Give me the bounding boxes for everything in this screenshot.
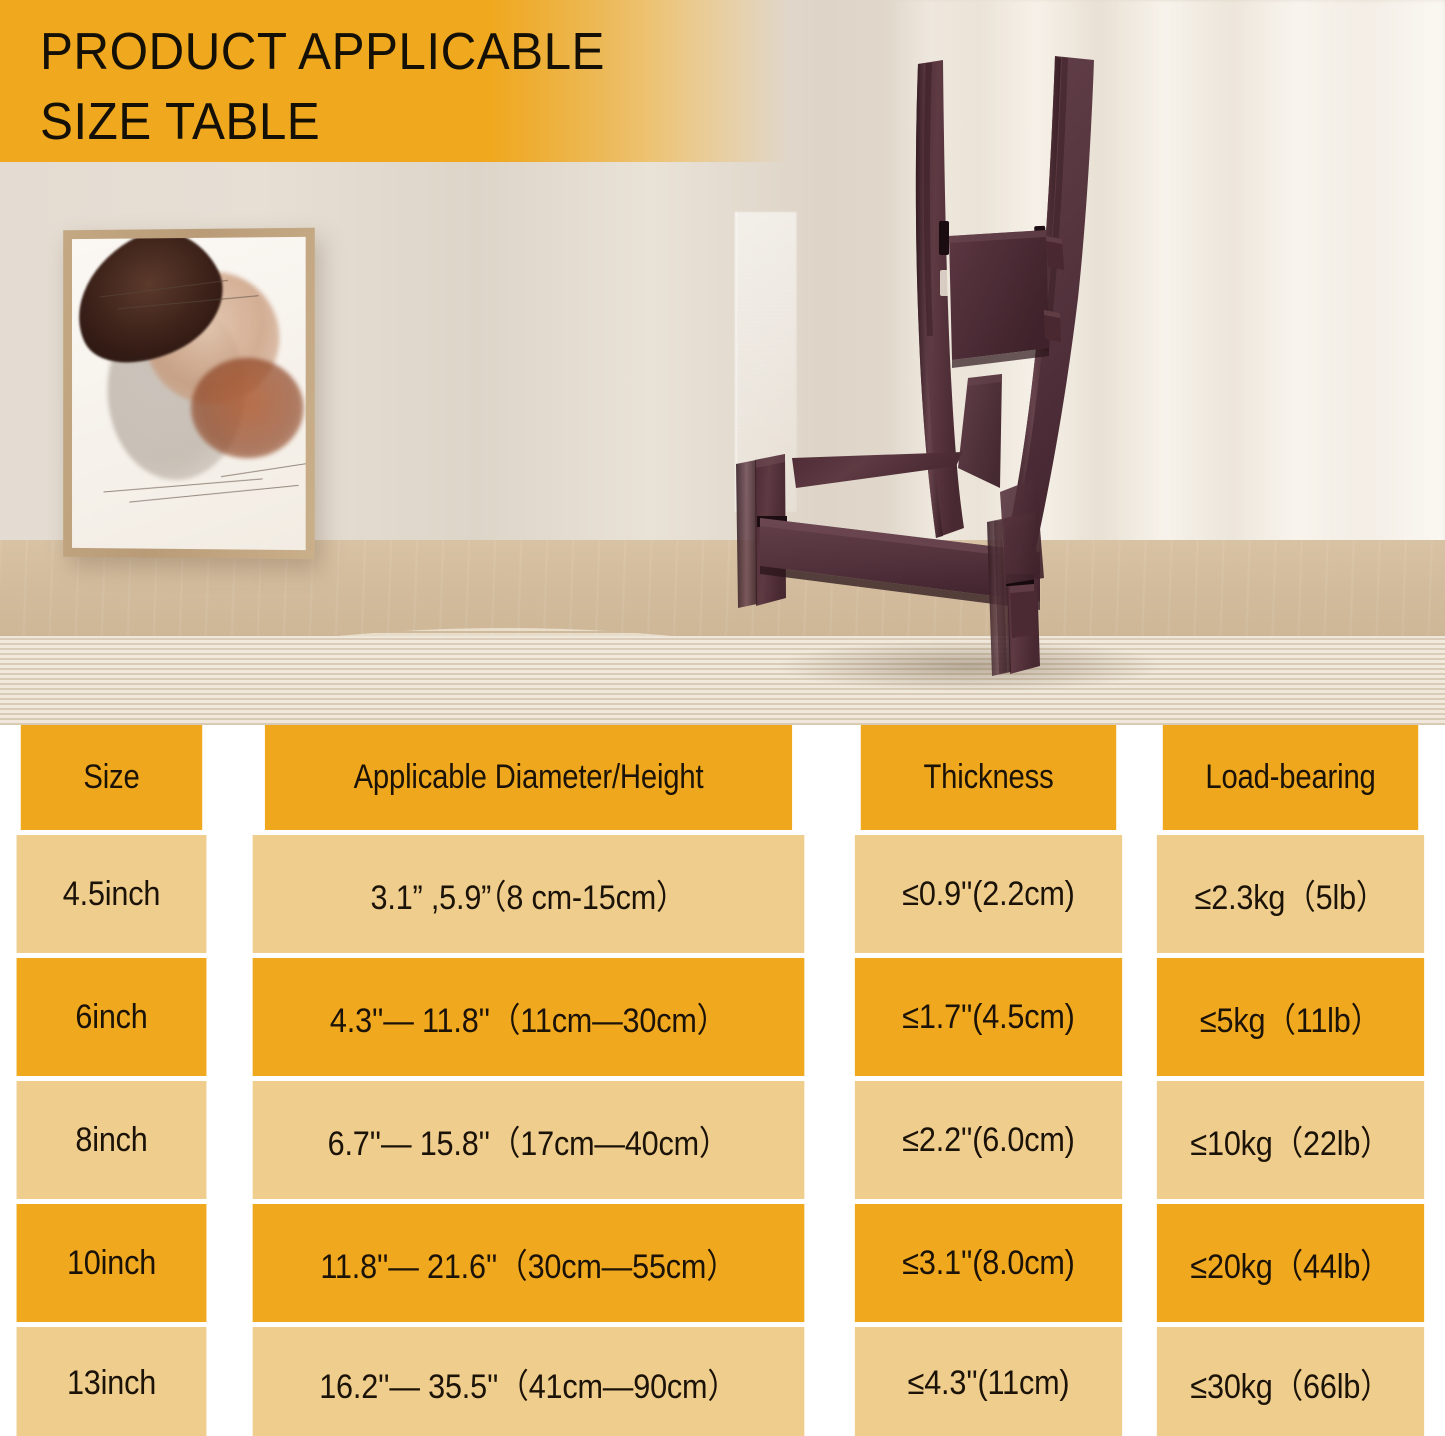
table-row: 8inch 6.7''— 15.8''（17cm—40cm） ≤2.2''(6.…: [0, 1081, 1445, 1199]
banner-title-line1: PRODUCT APPLICABLE: [40, 22, 605, 82]
cell-thickness: ≤1.7''(4.5cm): [855, 958, 1122, 1076]
cell-thickness: ≤4.3''(11cm): [855, 1327, 1122, 1436]
table-row: 4.5inch 3.1” ,5.9”（8 cm-15cm） ≤0.9''(2.2…: [0, 835, 1445, 953]
header-cell-size: Size: [21, 725, 202, 830]
banner-title-line2: SIZE TABLE: [40, 92, 320, 152]
cell-size: 8inch: [17, 1081, 207, 1199]
size-table: Size Applicable Diameter/Height Thicknes…: [0, 725, 1445, 1436]
stand-shadow: [775, 640, 1165, 692]
header-cell-thickness: Thickness: [861, 725, 1116, 830]
header-cell-load: Load-bearing: [1163, 725, 1418, 830]
cell-diameter: 4.3''— 11.8''（11cm—30cm）: [253, 958, 805, 1076]
cell-diameter: 3.1” ,5.9”（8 cm-15cm）: [253, 835, 805, 953]
cell-size: 10inch: [17, 1204, 207, 1322]
table-header-row: Size Applicable Diameter/Height Thicknes…: [0, 725, 1445, 830]
header-cell-diameter: Applicable Diameter/Height: [265, 725, 792, 830]
cell-size: 4.5inch: [17, 835, 207, 953]
product-photo: PRODUCT APPLICABLE SIZE TABLE: [0, 0, 1445, 725]
cell-size: 6inch: [17, 958, 207, 1076]
cell-thickness: ≤2.2''(6.0cm): [855, 1081, 1122, 1199]
cell-size: 13inch: [17, 1327, 207, 1436]
cell-diameter: 6.7''— 15.8''（17cm—40cm）: [253, 1081, 805, 1199]
table-row: 13inch 16.2''— 35.5''（41cm—90cm） ≤4.3''(…: [0, 1327, 1445, 1436]
easel-upper-crossbar: [949, 230, 1049, 368]
cell-thickness: ≤0.9''(2.2cm): [855, 835, 1122, 953]
cell-load: ≤2.3kg（5lb）: [1157, 835, 1424, 953]
cell-diameter: 11.8''— 21.6''（30cm—55cm）: [253, 1204, 805, 1322]
table-row: 6inch 4.3''— 11.8''（11cm—30cm） ≤1.7''(4.…: [0, 958, 1445, 1076]
cell-diameter: 16.2''— 35.5''（41cm—90cm）: [253, 1327, 805, 1436]
framed-artwork: [63, 228, 315, 560]
product-size-table-infographic: PRODUCT APPLICABLE SIZE TABLE Size Appli…: [0, 0, 1445, 1436]
art-stroke-5: [221, 463, 306, 477]
cell-thickness: ≤3.1''(8.0cm): [855, 1204, 1122, 1322]
artwork-canvas: [72, 237, 306, 550]
cell-load: ≤5kg（11lb）: [1157, 958, 1424, 1076]
cell-load: ≤30kg（66lb）: [1157, 1327, 1424, 1436]
table-row: 10inch 11.8''— 21.6''（30cm—55cm） ≤3.1''(…: [0, 1204, 1445, 1322]
cell-load: ≤20kg（44lb）: [1157, 1204, 1424, 1322]
title-banner: PRODUCT APPLICABLE SIZE TABLE: [0, 0, 790, 162]
art-blob-terracotta: [191, 358, 304, 459]
cell-load: ≤10kg（22lb）: [1157, 1081, 1424, 1199]
easel-diagonal-arm: [792, 374, 1002, 488]
